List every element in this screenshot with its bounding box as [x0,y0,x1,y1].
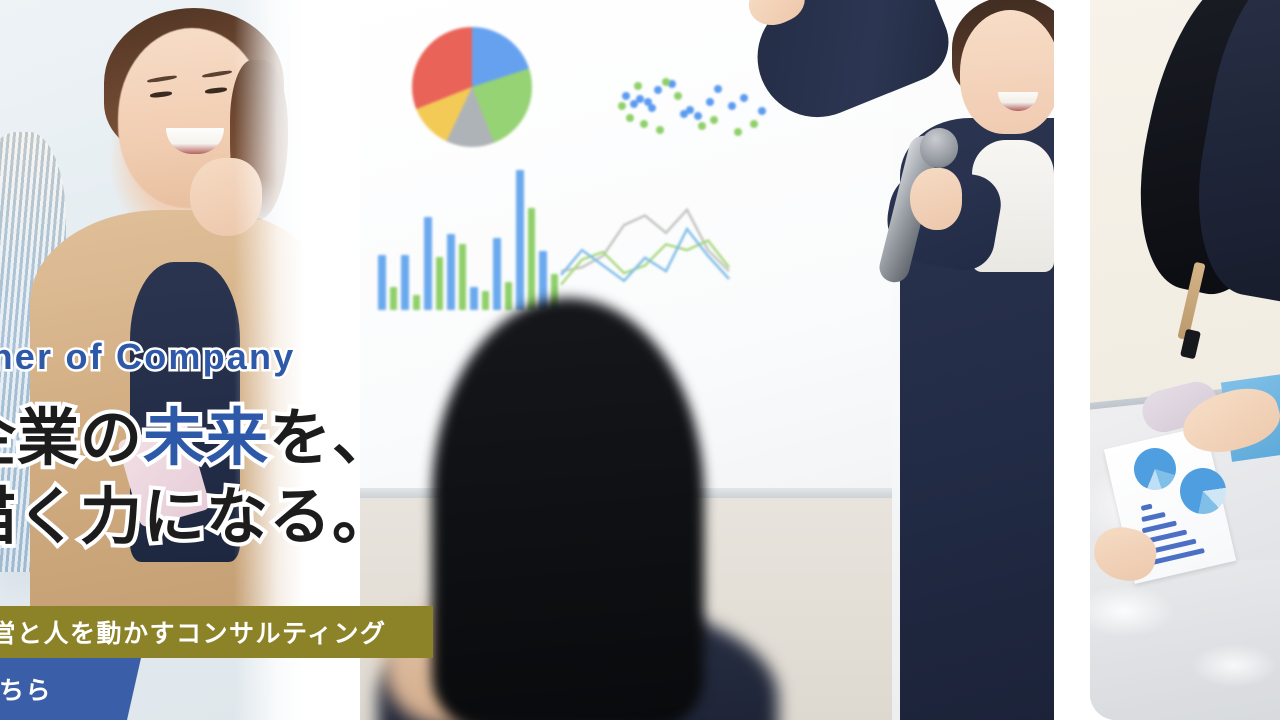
contact-cta-button[interactable]: はこちら [0,658,141,720]
hero-english-headline: artner of Company [0,336,295,378]
scatter-point [740,94,748,102]
headline-line1: 企業の未来を、 [0,401,395,474]
scatter-point [686,106,694,114]
contact-cta-label: はこちら [0,671,52,707]
scatter-point [706,98,714,106]
document-bar [1141,512,1166,522]
scatter-point [662,78,670,86]
headline-line1-suffix: を、 [269,401,395,474]
scatter-point [648,104,656,112]
scatter-point [634,82,642,90]
scatter-point [734,128,742,136]
document-bar [1141,504,1153,511]
bar-chart-bar [505,282,513,310]
scatter-point [656,126,664,134]
bar-chart-bar [470,287,478,310]
scatter-point [622,92,630,100]
hero-tagline-bar: 経営と人を動かすコンサルティング [0,606,433,658]
document-bar [1142,520,1177,533]
slide-line-chart [560,190,730,300]
bar-chart-bar [459,244,467,310]
hero-japanese-headline: 企業の未来を、 描く力になる。 [0,398,395,557]
scatter-point [694,112,702,120]
scatter-point [618,102,626,110]
bar-chart-bar [528,208,536,310]
scatter-point [750,120,758,128]
hero-panel-center [360,0,1054,720]
bar-chart-bar [482,291,490,310]
line-chart-series [561,240,729,284]
right-photo-marble-surface [1090,560,1280,720]
scatter-point [654,86,662,94]
bar-chart-bar [493,238,501,310]
scatter-point [714,85,722,93]
scatter-point [674,92,682,100]
center-photo-presenter-face [960,10,1054,134]
scatter-point [698,122,706,130]
hero-section: artner of Company 企業の未来を、 描く力になる。 経営と人を動… [0,0,1280,720]
scatter-point [626,114,634,122]
bar-chart-bar [447,234,455,310]
panel-gap-right [1054,0,1090,720]
line-chart-series [561,210,729,271]
scatter-point [728,102,736,110]
headline-accent-word: 未来 [143,401,269,474]
scatter-point [710,116,718,124]
headline-line2: 描く力になる。 [0,477,395,556]
hero-panel-right [1090,0,1280,720]
center-photo-audience-head [432,298,704,720]
hero-copy-overlay: artner of Company 企業の未来を、 描く力になる。 経営と人を動… [0,0,440,720]
scatter-point [636,95,644,103]
hero-tagline-text: 経営と人を動かすコンサルティング [0,614,387,650]
bar-chart-bar [516,170,524,310]
scatter-point [640,120,648,128]
center-photo-mic-hand [910,168,962,230]
headline-line1-lead: 企業の [0,401,143,474]
line-chart-series [561,229,729,281]
scatter-point [758,107,766,115]
